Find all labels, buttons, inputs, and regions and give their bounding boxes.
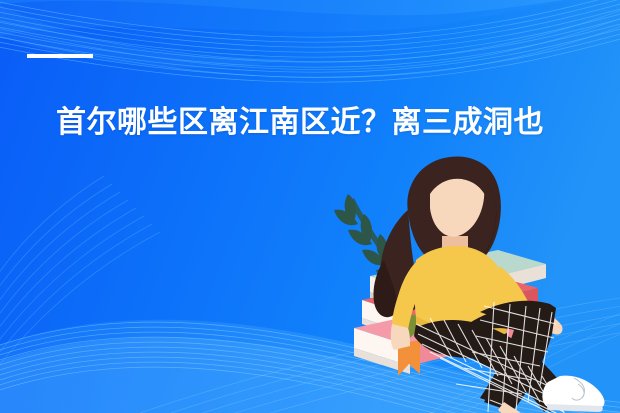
accent-rule [27, 54, 93, 58]
shoe-upper [542, 376, 604, 412]
page-title: 首尔哪些区离江南区近？离三成洞也 [56, 101, 596, 145]
illustration-woman-on-books [312, 148, 620, 413]
promo-banner: 首尔哪些区离江南区近？离三成洞也 [0, 0, 620, 413]
woman-figure [373, 156, 604, 413]
